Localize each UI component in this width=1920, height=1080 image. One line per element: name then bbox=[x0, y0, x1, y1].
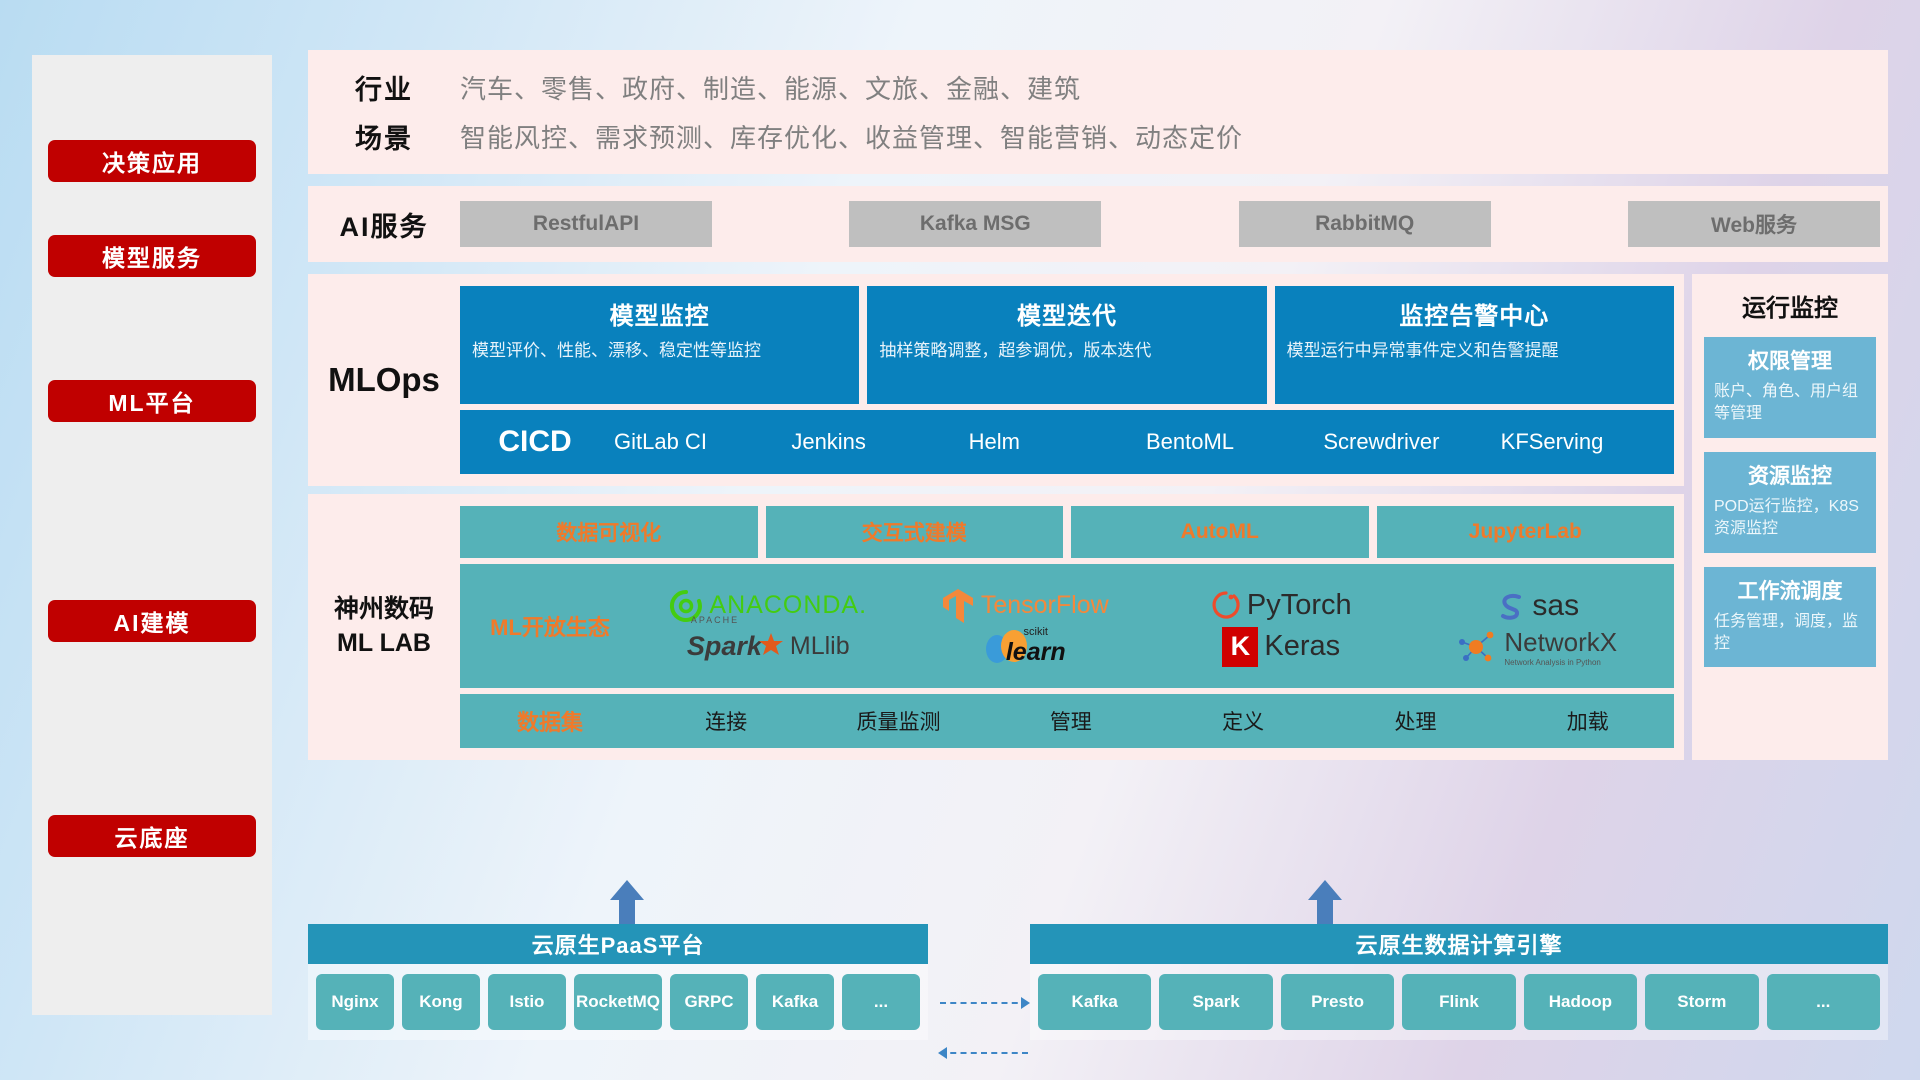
monitor-card-workflow[interactable]: 工作流调度 任务管理，调度，监控 bbox=[1704, 567, 1876, 668]
networkx-wordmark: NetworkX bbox=[1504, 627, 1617, 658]
card-desc: 任务管理，调度，监控 bbox=[1714, 611, 1866, 656]
card-title: 资源监控 bbox=[1714, 460, 1866, 490]
card-desc: 账户、角色、用户组等管理 bbox=[1714, 381, 1866, 426]
card-desc: 模型运行中异常事件定义和告警提醒 bbox=[1287, 339, 1662, 364]
engine-chip-storm[interactable]: Storm bbox=[1645, 974, 1758, 1030]
pytorch-wordmark: PyTorch bbox=[1247, 589, 1352, 622]
engine-chip-presto[interactable]: Presto bbox=[1281, 974, 1394, 1030]
rail-label: 云底座 bbox=[115, 819, 190, 853]
paas-chip-nginx[interactable]: Nginx bbox=[316, 974, 394, 1030]
dataset-item-load[interactable]: 加载 bbox=[1502, 706, 1674, 736]
engine-chip-kafka[interactable]: Kafka bbox=[1038, 974, 1151, 1030]
runtime-monitor-panel: 运行监控 权限管理 账户、角色、用户组等管理 资源监控 POD运行监控，K8S资… bbox=[1692, 274, 1888, 760]
dataset-label: 数据集 bbox=[460, 705, 640, 737]
card-title: 权限管理 bbox=[1714, 345, 1866, 375]
networkx-icon bbox=[1458, 629, 1498, 665]
runtime-monitor-title: 运行监控 bbox=[1704, 288, 1876, 323]
pytorch-icon bbox=[1211, 589, 1241, 623]
paas-title: 云原生PaaS平台 bbox=[308, 924, 928, 964]
engine-chip-hadoop[interactable]: Hadoop bbox=[1524, 974, 1637, 1030]
spark-wordmark: Spark bbox=[687, 631, 762, 662]
lab-tool-data-visualization[interactable]: 数据可视化 bbox=[460, 506, 758, 558]
industry-row: 行业 汽车、零售、政府、制造、能源、文旅、金融、建筑 bbox=[308, 68, 1888, 107]
rail-label: 模型服务 bbox=[102, 239, 202, 273]
paas-pane: 云原生PaaS平台 Nginx Kong Istio RocketMQ GRPC… bbox=[308, 924, 928, 1040]
main-column: 行业 汽车、零售、政府、制造、能源、文旅、金融、建筑 场景 智能风控、需求预测、… bbox=[308, 50, 1888, 760]
arrow-up-engine-icon bbox=[1308, 880, 1342, 924]
networkx-subtitle: Network Analysis in Python bbox=[1504, 658, 1617, 667]
monitor-card-resource[interactable]: 资源监控 POD运行监控，K8S资源监控 bbox=[1704, 452, 1876, 553]
architecture-diagram: 决策应用 模型服务 ML平台 AI建模 云底座 行业 汽车、零售、政府、制造、能… bbox=[0, 0, 1920, 1080]
mlops-card-model-monitoring[interactable]: 模型监控 模型评价、性能、漂移、稳定性等监控 bbox=[460, 286, 859, 404]
ml-lab-label-line1: 神州数码 bbox=[334, 593, 434, 627]
sas-wordmark: sas bbox=[1532, 589, 1579, 623]
cicd-item-jenkins[interactable]: Jenkins bbox=[787, 427, 964, 457]
card-title: 工作流调度 bbox=[1714, 575, 1866, 605]
data-engine-title: 云原生数据计算引擎 bbox=[1030, 924, 1888, 964]
cloud-base-band: 云原生PaaS平台 Nginx Kong Istio RocketMQ GRPC… bbox=[308, 880, 1888, 1040]
ml-ecosystem-logos: ANACONDA. TensorFlow bbox=[640, 585, 1674, 667]
data-engine-chips: Kafka Spark Presto Flink Hadoop Storm ..… bbox=[1030, 964, 1888, 1040]
mlops-label: MLOps bbox=[308, 286, 460, 474]
ai-service-chip-restfulapi[interactable]: RestfulAPI bbox=[460, 201, 712, 247]
scenario-row: 场景 智能风控、需求预测、库存优化、收益管理、智能营销、动态定价 bbox=[308, 117, 1888, 156]
lab-tool-interactive-modeling[interactable]: 交互式建模 bbox=[766, 506, 1064, 558]
rail-item-cloud-base[interactable]: 云底座 bbox=[48, 815, 256, 857]
learn-word: learn bbox=[1006, 638, 1066, 667]
card-desc: 模型评价、性能、漂移、稳定性等监控 bbox=[472, 339, 847, 364]
scikit-word: scikit bbox=[1024, 626, 1048, 638]
dataset-item-quality[interactable]: 质量监测 bbox=[812, 706, 984, 736]
paas-chip-istio[interactable]: Istio bbox=[488, 974, 566, 1030]
ai-service-chip-rabbitmq[interactable]: RabbitMQ bbox=[1239, 201, 1491, 247]
card-title: 监控告警中心 bbox=[1287, 296, 1662, 331]
industry-label: 行业 bbox=[308, 68, 460, 107]
card-desc: 抽样策略调整，超参调优，版本迭代 bbox=[879, 339, 1254, 364]
rail-item-ai-modeling[interactable]: AI建模 bbox=[48, 600, 256, 642]
arrow-up-paas-icon bbox=[610, 880, 644, 924]
card-title: 模型迭代 bbox=[879, 296, 1254, 331]
keras-logo: K Keras bbox=[1222, 627, 1340, 667]
lab-tool-row: 数据可视化 交互式建模 AutoML JupyterLab bbox=[460, 506, 1674, 558]
cicd-bar: CICD GitLab CI Jenkins Helm BentoML Scre… bbox=[460, 410, 1674, 474]
rail-item-model-service[interactable]: 模型服务 bbox=[48, 235, 256, 277]
paas-chip-grpc[interactable]: GRPC bbox=[670, 974, 748, 1030]
scenario-value: 智能风控、需求预测、库存优化、收益管理、智能营销、动态定价 bbox=[460, 118, 1243, 155]
rail-item-decision-apps[interactable]: 决策应用 bbox=[48, 140, 256, 182]
decision-apps-band: 行业 汽车、零售、政府、制造、能源、文旅、金融、建筑 场景 智能风控、需求预测、… bbox=[308, 50, 1888, 174]
cicd-item-kfserving[interactable]: KFServing bbox=[1497, 427, 1674, 457]
left-rail: 决策应用 模型服务 ML平台 AI建模 云底座 bbox=[32, 55, 272, 1015]
cicd-item-helm[interactable]: Helm bbox=[965, 427, 1142, 457]
rail-item-ml-platform[interactable]: ML平台 bbox=[48, 380, 256, 422]
lab-tool-jupyterlab[interactable]: JupyterLab bbox=[1377, 506, 1675, 558]
tensorflow-icon bbox=[941, 587, 975, 625]
industry-value: 汽车、零售、政府、制造、能源、文旅、金融、建筑 bbox=[460, 69, 1081, 106]
ml-ecosystem-label: ML开放生态 bbox=[460, 610, 640, 642]
engine-chip-spark[interactable]: Spark bbox=[1159, 974, 1272, 1030]
paas-chip-rocketmq[interactable]: RocketMQ bbox=[574, 974, 662, 1030]
mlops-card-model-iteration[interactable]: 模型迭代 抽样策略调整，超参调优，版本迭代 bbox=[867, 286, 1266, 404]
lab-tool-automl[interactable]: AutoML bbox=[1071, 506, 1369, 558]
networkx-logo: NetworkX Network Analysis in Python bbox=[1458, 627, 1617, 667]
scikit-learn-logo: scikit learn bbox=[984, 626, 1066, 667]
dataset-item-manage[interactable]: 管理 bbox=[985, 706, 1157, 736]
ai-service-items: RestfulAPI Kafka MSG RabbitMQ Web服务 bbox=[460, 201, 1888, 247]
engine-chip-more[interactable]: ... bbox=[1767, 974, 1880, 1030]
mlops-cards: 模型监控 模型评价、性能、漂移、稳定性等监控 模型迭代 抽样策略调整，超参调优，… bbox=[460, 286, 1674, 404]
paas-chip-kong[interactable]: Kong bbox=[402, 974, 480, 1030]
sas-icon bbox=[1496, 591, 1526, 621]
ai-service-label: AI服务 bbox=[308, 205, 460, 244]
cicd-item-bentoml[interactable]: BentoML bbox=[1142, 427, 1319, 457]
pytorch-logo: PyTorch bbox=[1211, 589, 1352, 623]
data-engine-pane: 云原生数据计算引擎 Kafka Spark Presto Flink Hadoo… bbox=[1030, 924, 1888, 1040]
paas-chip-more[interactable]: ... bbox=[842, 974, 920, 1030]
dashed-arrow-right bbox=[940, 1002, 1028, 1004]
scenario-label: 场景 bbox=[308, 117, 460, 156]
cicd-item-screwdriver[interactable]: Screwdriver bbox=[1319, 427, 1496, 457]
ml-lab-label-line2: ML LAB bbox=[337, 627, 431, 661]
paas-chip-kafka[interactable]: Kafka bbox=[756, 974, 834, 1030]
spark-mllib-logo: APACHE Spark MLlib bbox=[687, 631, 850, 662]
cicd-item-gitlab-ci[interactable]: GitLab CI bbox=[610, 427, 787, 457]
dataset-item-define[interactable]: 定义 bbox=[1157, 706, 1329, 736]
mlops-card-alert-center[interactable]: 监控告警中心 模型运行中异常事件定义和告警提醒 bbox=[1275, 286, 1674, 404]
keras-wordmark: Keras bbox=[1264, 630, 1340, 663]
ai-service-chip-kafka-msg[interactable]: Kafka MSG bbox=[849, 201, 1101, 247]
keras-icon: K bbox=[1222, 627, 1258, 667]
rail-label: ML平台 bbox=[108, 384, 195, 418]
paas-chips: Nginx Kong Istio RocketMQ GRPC Kafka ... bbox=[308, 964, 928, 1040]
mlops-band: MLOps 模型监控 模型评价、性能、漂移、稳定性等监控 模型迭代 抽样策略调整… bbox=[308, 274, 1684, 486]
monitor-card-permission[interactable]: 权限管理 账户、角色、用户组等管理 bbox=[1704, 337, 1876, 438]
dataset-row: 数据集 连接 质量监测 管理 定义 处理 加载 bbox=[460, 694, 1674, 748]
ai-service-band: AI服务 RestfulAPI Kafka MSG RabbitMQ Web服务 bbox=[308, 186, 1888, 262]
dashed-arrow-left bbox=[940, 1052, 1028, 1054]
dataset-item-connect[interactable]: 连接 bbox=[640, 706, 812, 736]
cicd-title: CICD bbox=[460, 425, 610, 459]
ml-ecosystem-row: ML开放生态 ANACONDA. bbox=[460, 564, 1674, 688]
platform-and-monitor: MLOps 模型监控 模型评价、性能、漂移、稳定性等监控 模型迭代 抽样策略调整… bbox=[308, 274, 1888, 760]
tensorflow-wordmark: TensorFlow bbox=[981, 591, 1109, 620]
ml-lab-band: 神州数码 ML LAB 数据可视化 交互式建模 AutoML JupyterLa… bbox=[308, 494, 1684, 760]
platform-stack: MLOps 模型监控 模型评价、性能、漂移、稳定性等监控 模型迭代 抽样策略调整… bbox=[308, 274, 1684, 760]
ai-service-chip-web-service[interactable]: Web服务 bbox=[1628, 201, 1880, 247]
spark-star-icon bbox=[758, 632, 784, 658]
rail-label: AI建模 bbox=[114, 604, 191, 638]
rail-label: 决策应用 bbox=[102, 144, 202, 178]
tensorflow-logo: TensorFlow bbox=[941, 587, 1109, 625]
spark-apache-text: APACHE bbox=[691, 615, 739, 625]
sas-logo: sas bbox=[1496, 589, 1579, 623]
dataset-item-process[interactable]: 处理 bbox=[1329, 706, 1501, 736]
engine-chip-flink[interactable]: Flink bbox=[1402, 974, 1515, 1030]
card-desc: POD运行监控，K8S资源监控 bbox=[1714, 496, 1866, 541]
ml-lab-label: 神州数码 ML LAB bbox=[308, 506, 460, 748]
mllib-wordmark: MLlib bbox=[790, 632, 850, 661]
card-title: 模型监控 bbox=[472, 296, 847, 331]
